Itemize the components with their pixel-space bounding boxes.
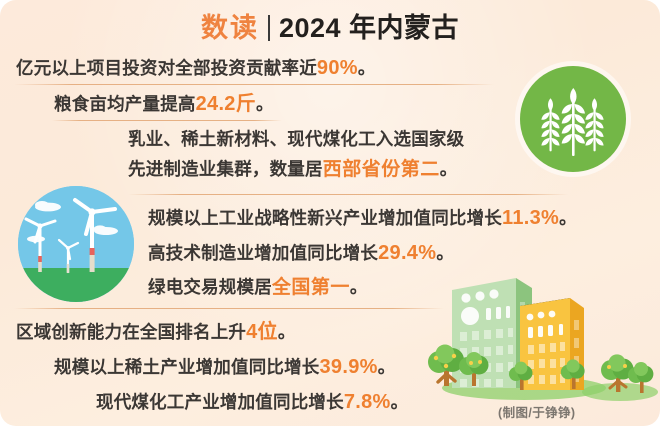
stat-investment-contribution: 亿元以上项目投资对全部投资贡献率近90%。 xyxy=(16,56,376,81)
stat-highlight: 西部省份第二 xyxy=(323,159,440,180)
stat-suffix: 。 xyxy=(559,208,577,228)
stat-text: 先进制造业集群，数量居 xyxy=(128,159,323,179)
wind-turbines-illustration xyxy=(18,186,134,302)
infographic-poster: 数读 2024 年内蒙古 xyxy=(0,0,660,426)
page-title: 2024 年内蒙古 xyxy=(279,15,459,42)
stat-green-power-trading: 绿电交易规模居全国第一。 xyxy=(148,276,368,300)
stat-highlight: 29.4% xyxy=(378,242,436,264)
stat-text: 亿元以上项目投资对全部投资贡献率近 xyxy=(16,58,317,78)
stat-text: 高技术制造业增加值同比增长 xyxy=(148,243,378,263)
stat-suffix: 。 xyxy=(350,277,368,297)
city-buildings-illustration xyxy=(424,262,660,410)
stat-highlight: 24.2斤 xyxy=(196,93,256,115)
stat-highlight: 39.9% xyxy=(320,356,378,378)
stat-regional-innovation-ranking: 区域创新能力在全国排名上升4位。 xyxy=(16,320,296,345)
stat-rare-earth-industry: 规模以上稀土产业增加值同比增长39.9%。 xyxy=(54,355,395,380)
stat-high-tech-manufacturing: 高技术制造业增加值同比增长29.4%。 xyxy=(148,241,454,266)
stat-text: 乳业、稀土新材料、现代煤化工入选国家级 xyxy=(128,129,464,149)
stat-manufacturing-clusters-line2: 先进制造业集群，数量居西部省份第二。 xyxy=(128,158,457,182)
stat-text: 现代煤化工产业增加值同比增长 xyxy=(96,392,344,412)
separator-3 xyxy=(128,194,568,195)
stat-highlight: 7.8% xyxy=(344,391,391,413)
stat-strategic-emerging-industry: 规模以上工业战略性新兴产业增加值同比增长11.3%。 xyxy=(148,206,577,231)
stat-suffix: 。 xyxy=(256,94,274,114)
stat-suffix: 。 xyxy=(378,357,396,377)
stat-modern-coal-chemical: 现代煤化工产业增加值同比增长7.8%。 xyxy=(96,390,408,415)
stat-text: 绿电交易规模居 xyxy=(148,277,272,297)
stat-text: 规模以上稀土产业增加值同比增长 xyxy=(54,357,320,377)
stat-suffix: 。 xyxy=(436,243,454,263)
stat-highlight: 11.3% xyxy=(502,207,559,229)
stat-suffix: 。 xyxy=(358,58,376,78)
stat-highlight: 4位 xyxy=(246,321,278,343)
stat-suffix: 。 xyxy=(278,322,296,342)
separator-1 xyxy=(14,84,494,85)
stat-grain-yield: 粮食亩均产量提高24.2斤。 xyxy=(54,92,274,117)
stat-text: 规模以上工业战略性新兴产业增加值同比增长 xyxy=(148,208,502,228)
stat-text: 区域创新能力在全国排名上升 xyxy=(16,322,246,342)
stat-highlight: 90% xyxy=(317,57,358,79)
poster-title-row: 数读 2024 年内蒙古 xyxy=(0,8,660,48)
stat-suffix: 。 xyxy=(440,159,458,179)
stat-suffix: 。 xyxy=(391,392,409,412)
stat-manufacturing-clusters-line1: 乳业、稀土新材料、现代煤化工入选国家级 xyxy=(128,129,464,151)
stat-highlight: 全国第一 xyxy=(272,277,350,298)
stat-text: 粮食亩均产量提高 xyxy=(54,94,196,114)
credit-line: (制图/于铮铮) xyxy=(498,402,576,421)
brand-label: 数读 xyxy=(201,15,268,42)
separator-2 xyxy=(52,120,282,121)
title-divider-icon xyxy=(268,15,270,41)
wheat-stalks-icon xyxy=(520,66,626,172)
separator-4 xyxy=(14,308,444,309)
